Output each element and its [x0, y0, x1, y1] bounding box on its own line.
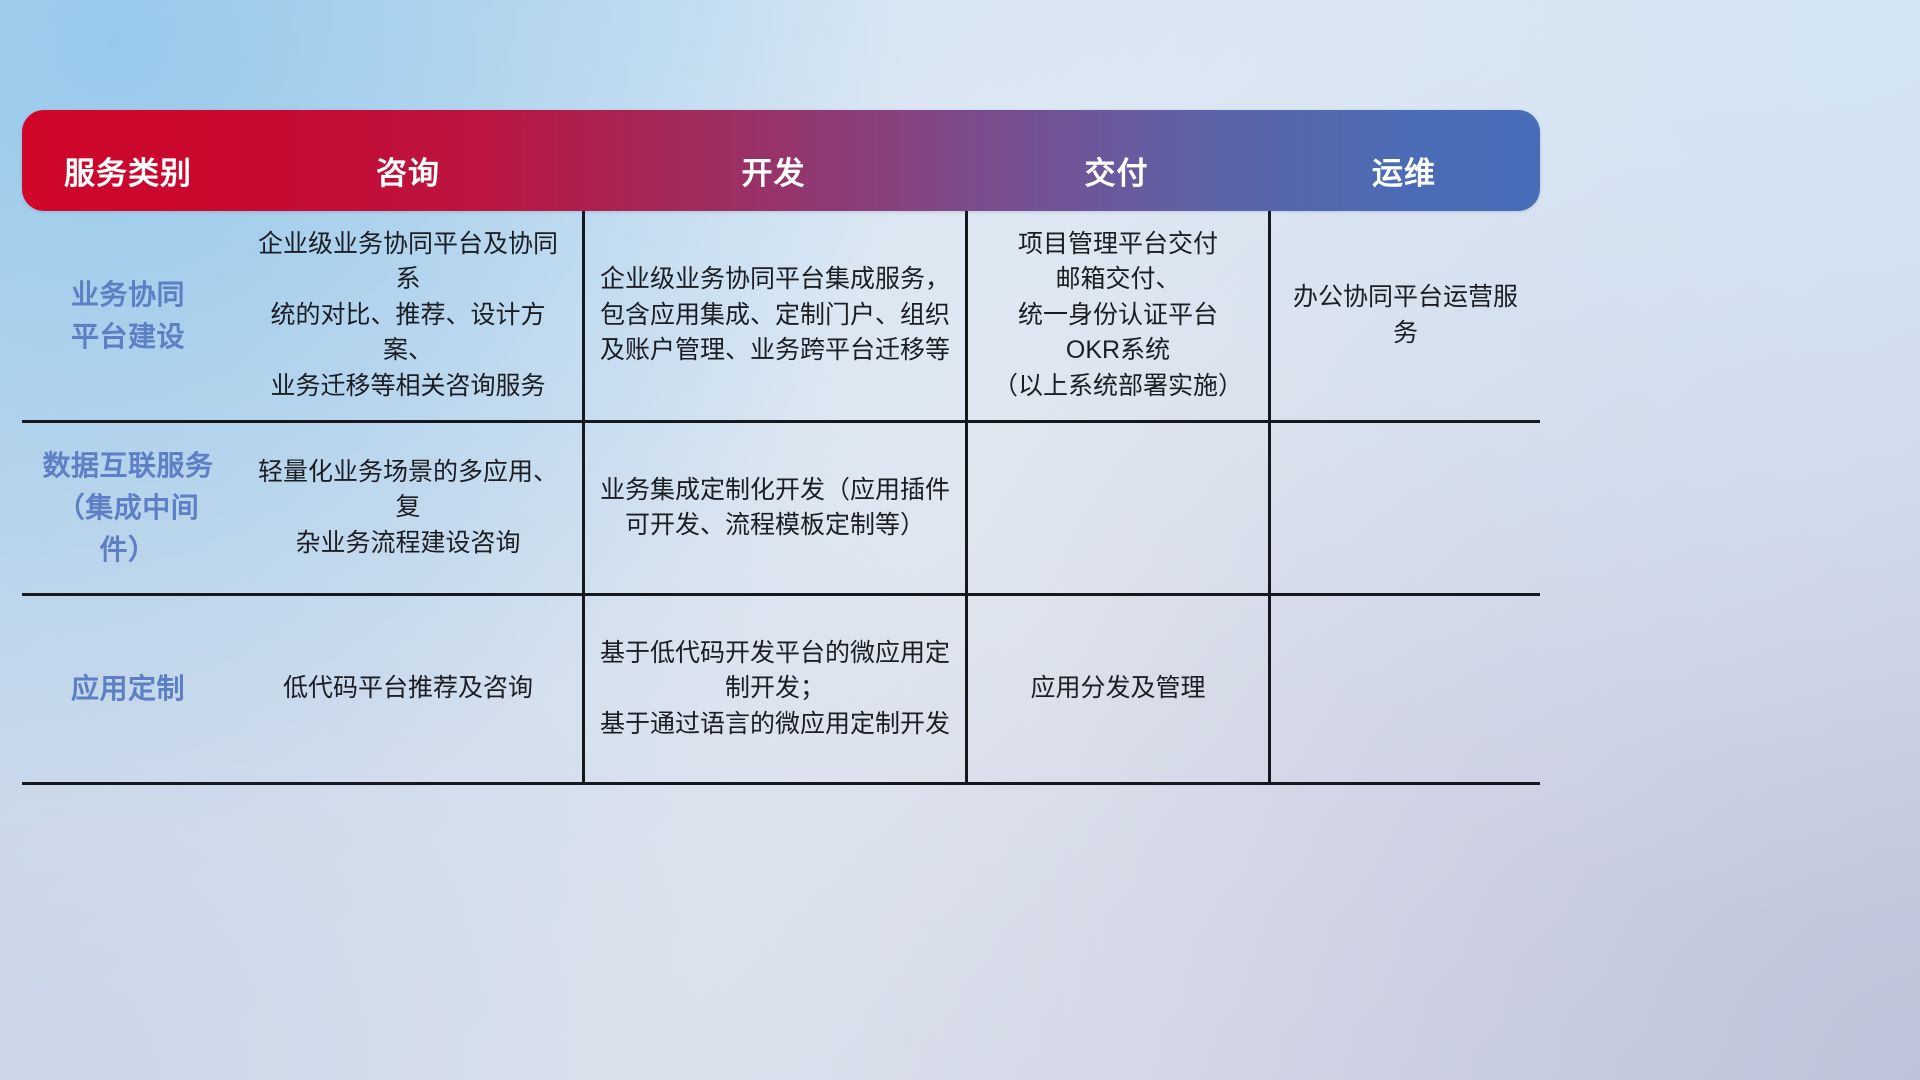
cell-r1-development: 企业级业务协同平台集成服务， 包含应用集成、定制门户、组织 及账户管理、业务跨平…	[582, 211, 965, 420]
table-row: 数据互联服务 （集成中间件） 轻量化业务场景的多应用、复 杂业务流程建设咨询 业…	[22, 420, 1540, 593]
table-header-cell-delivery: 交付	[965, 157, 1268, 211]
cell-r1-operations: 办公协同平台运营服务	[1268, 211, 1540, 420]
table-header-cell-consulting: 咨询	[234, 157, 582, 211]
cell-r2-delivery	[965, 423, 1268, 593]
cell-r2-consulting: 轻量化业务场景的多应用、复 杂业务流程建设咨询	[234, 423, 582, 593]
cell-r3-operations	[1268, 596, 1540, 782]
slide-canvas: 服务类别 咨询 开发 交付 运维 业务协同 平台建设 企业级业务协同平台及协同系…	[0, 0, 1920, 1080]
table-body: 业务协同 平台建设 企业级业务协同平台及协同系 统的对比、推荐、设计方案、 业务…	[22, 211, 1540, 785]
table-header-cell-service-category: 服务类别	[22, 157, 234, 211]
cell-r3-delivery: 应用分发及管理	[965, 596, 1268, 782]
service-category-table: 服务类别 咨询 开发 交付 运维 业务协同 平台建设 企业级业务协同平台及协同系…	[22, 110, 1540, 778]
cell-r1-consulting: 企业级业务协同平台及协同系 统的对比、推荐、设计方案、 业务迁移等相关咨询服务	[234, 211, 582, 420]
table-header-cell-operations: 运维	[1268, 157, 1540, 211]
row-label-data-interconnect-service: 数据互联服务 （集成中间件）	[22, 423, 234, 593]
row-label-application-customization: 应用定制	[22, 596, 234, 782]
row-label-business-collaboration-platform: 业务协同 平台建设	[22, 211, 234, 420]
cell-r2-development: 业务集成定制化开发（应用插件 可开发、流程模板定制等）	[582, 423, 965, 593]
cell-r1-delivery: 项目管理平台交付 邮箱交付、 统一身份认证平台 OKR系统 （以上系统部署实施）	[965, 211, 1268, 420]
table-row: 业务协同 平台建设 企业级业务协同平台及协同系 统的对比、推荐、设计方案、 业务…	[22, 211, 1540, 420]
table-header-band: 服务类别 咨询 开发 交付 运维	[22, 110, 1540, 211]
table-row: 应用定制 低代码平台推荐及咨询 基于低代码开发平台的微应用定 制开发； 基于通过…	[22, 593, 1540, 782]
table-header-cell-development: 开发	[582, 157, 965, 211]
cell-r3-consulting: 低代码平台推荐及咨询	[234, 596, 582, 782]
cell-r2-operations	[1268, 423, 1540, 593]
cell-r3-development: 基于低代码开发平台的微应用定 制开发； 基于通过语言的微应用定制开发	[582, 596, 965, 782]
